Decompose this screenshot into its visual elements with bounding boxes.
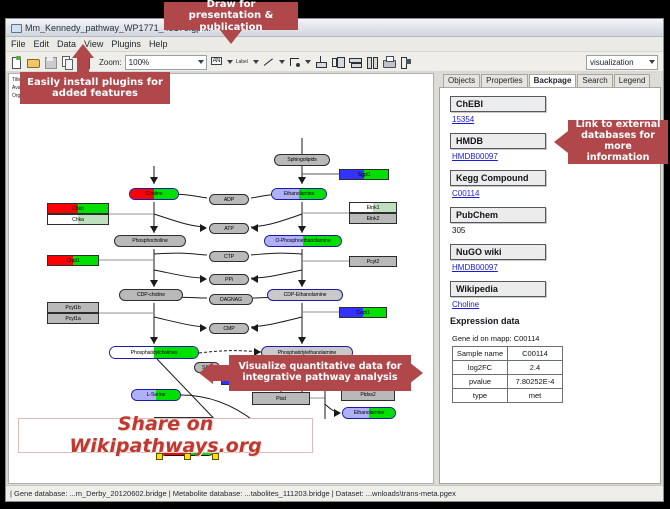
node-label: ADP — [224, 197, 234, 203]
pathway-node-sphingolipids[interactable]: Sphingolipids — [274, 154, 330, 166]
save-icon[interactable] — [43, 55, 57, 69]
backpage-section-head: HMDB — [450, 133, 546, 149]
tab-search[interactable]: Search — [577, 74, 612, 87]
callout-plugins-arrow — [72, 44, 94, 58]
backpage-link[interactable]: Choline — [452, 300, 660, 309]
node-label: Ethanolamine — [354, 410, 385, 416]
node-label: CMP — [223, 326, 234, 332]
node-label: Pcyt2 — [367, 259, 379, 265]
line-dropdown-icon[interactable] — [279, 60, 285, 64]
backpage-link[interactable]: C00114 — [452, 189, 660, 198]
expression-data-title: Expression data — [450, 316, 660, 326]
pathvisio-icon — [10, 22, 21, 33]
tab-objects[interactable]: Objects — [443, 74, 480, 87]
line-icon[interactable] — [262, 55, 276, 69]
chevron-down-icon — [649, 60, 655, 64]
callout-share: Share on Wikipathways.org — [18, 418, 313, 453]
node-label: Ethanolamine — [284, 191, 315, 197]
menu-item-help[interactable]: Help — [149, 39, 168, 49]
node-label: CDP-Ethanolamine — [284, 292, 327, 298]
pathway-node-etnk2[interactable]: Etnk2 — [349, 213, 397, 224]
stack-icon[interactable] — [348, 55, 362, 69]
pathway-node-ethanolamine-top[interactable]: Ethanolamine — [271, 188, 327, 200]
pathway-node-ethanolamine-bottom[interactable]: Ethanolamine — [342, 407, 396, 419]
pathway-node-chka[interactable]: Chka — [47, 214, 109, 225]
table-row: typemet — [453, 389, 563, 403]
node-label: Chkb — [72, 206, 84, 212]
new-document-icon[interactable] — [9, 55, 23, 69]
pathway-node-cdp-ethanolamine[interactable]: CDP-Ethanolamine — [267, 289, 343, 301]
pathway-node-l-serine-left[interactable]: L-Serine — [131, 389, 181, 401]
callout-link-arrow — [554, 131, 568, 153]
node-label: PPi — [225, 277, 233, 283]
node-label: Etnk2 — [367, 216, 380, 222]
node-label: Cept1 — [356, 310, 369, 316]
pathway-node-pcyt1b[interactable]: Pcyt1b — [47, 302, 99, 313]
node-label: Pcyt1b — [65, 305, 80, 311]
pathway-node-chkb[interactable]: Chkb — [47, 203, 109, 214]
zoom-label: Zoom: — [99, 58, 122, 67]
node-label: Pcyt1a — [65, 316, 80, 322]
gene-id-on-mapp: Gene id on mapp: C00114 — [452, 334, 660, 343]
visualization-value: visualization — [590, 58, 634, 67]
pathway-node-ctp[interactable]: CTP — [209, 251, 249, 262]
node-label: Sphingolipids — [287, 157, 317, 163]
open-folder-icon[interactable] — [26, 55, 40, 69]
node-label: CDP-choline — [137, 292, 165, 298]
callout-plugins-stem — [77, 57, 89, 73]
callout-link: Link to external databases for more info… — [568, 120, 668, 164]
callout-visualize-arrow-right — [409, 362, 423, 384]
callout-visualize: Visualize quantitative data for integrat… — [229, 355, 411, 391]
pathway-node-dag-nag[interactable]: DAGNAG — [209, 294, 253, 305]
toolbar: Zoom: 100% visualization — [6, 52, 663, 73]
pathway-node-ppi[interactable]: PPi — [209, 274, 249, 285]
menubar: File Edit Data View Plugins Help — [6, 37, 663, 52]
arrow-icon[interactable] — [288, 55, 302, 69]
node-label: Phosphatidylcholines — [131, 350, 178, 356]
node-label: Chpt1 — [66, 258, 79, 264]
node-label: Sgpl1 — [358, 172, 371, 178]
node-label: ATP — [224, 226, 233, 232]
annotation-dropdown-icon[interactable] — [227, 60, 233, 64]
backpage-section-head: PubChem — [450, 207, 546, 223]
callout-visualize-arrow — [199, 362, 213, 384]
node-label: Etnk1 — [367, 205, 380, 211]
pathway-node-cmp[interactable]: CMP — [209, 323, 249, 334]
table-cell: met — [508, 389, 563, 403]
table-row: pvalue7.80252E-4 — [453, 375, 563, 389]
backpage-value: 305 — [452, 226, 660, 235]
table-cell: C00114 — [508, 347, 563, 361]
backpage-section-head: ChEBI — [450, 96, 546, 112]
table-cell: pvalue — [453, 375, 508, 389]
pathway-node-sgpl1[interactable]: Sgpl1 — [339, 169, 389, 180]
node-label: L-Serine — [147, 392, 166, 398]
tab-legend[interactable]: Legend — [614, 74, 651, 87]
pathway-node-pcyt1a[interactable]: Pcyt1a — [47, 313, 99, 324]
table-row: log2FC2.4 — [453, 361, 563, 375]
zoom-value: 100% — [129, 58, 149, 67]
label-dropdown-icon[interactable] — [253, 60, 259, 64]
pathway-node-phosphatidylcholines[interactable]: Phosphatidylcholines — [109, 346, 199, 359]
order-icon[interactable] — [399, 55, 413, 69]
pathway-node-cept1[interactable]: Cept1 — [339, 307, 387, 318]
align-left-icon[interactable] — [331, 55, 345, 69]
label-icon[interactable] — [236, 55, 250, 69]
pathway-node-etnk1[interactable]: Etnk1 — [349, 202, 397, 213]
distribute-icon[interactable] — [365, 55, 379, 69]
align-center-icon[interactable] — [314, 55, 328, 69]
node-label: CTP — [224, 254, 234, 260]
table-cell: log2FC — [453, 361, 508, 375]
screenshot-root: Mm_Kennedy_pathway_WP1771_45176.gpml Fil… — [0, 0, 670, 509]
pathway-node-chpt1[interactable]: Chpt1 — [47, 255, 99, 266]
pathway-node-pcyt2[interactable]: Pcyt2 — [349, 256, 397, 267]
visualization-combobox[interactable]: visualization — [586, 55, 658, 70]
node-label: Chka — [72, 217, 84, 223]
callout-draw: Draw for presentation & publication — [164, 2, 298, 30]
table-cell: 2.4 — [508, 361, 563, 375]
print-icon[interactable] — [382, 55, 396, 69]
pathway-node-adp[interactable]: ADP — [209, 194, 249, 205]
menu-item-file[interactable]: File — [11, 39, 26, 49]
node-label: Phosphocholine — [132, 238, 168, 244]
panel-tabs: Objects Properties Backpage Search Legen… — [439, 73, 661, 87]
backpage-link[interactable]: HMDB00097 — [452, 263, 660, 272]
node-label: Ptdss2 — [360, 392, 375, 398]
backpage-section-head: Kegg Compound — [450, 170, 546, 186]
pathway-node-atp[interactable]: ATP — [209, 223, 249, 234]
node-label: Choline — [146, 191, 163, 197]
pathway-node-pisd[interactable]: Pisd — [252, 392, 310, 405]
callout-plugins: Easily install plugins for added feature… — [20, 72, 170, 104]
statusbar-text: | Gene database: ...m_Derby_20120602.bri… — [6, 489, 456, 498]
annotation-icon[interactable] — [210, 55, 224, 69]
pathway-node-o-phosphoethanolamine[interactable]: O-Phosphoethanolamine — [264, 235, 342, 247]
pathway-node-cdp-choline[interactable]: CDP-choline — [119, 289, 183, 301]
table-cell: 7.80252E-4 — [508, 375, 563, 389]
node-label: O-Phosphoethanolamine — [275, 238, 330, 244]
window-titlebar: Mm_Kennedy_pathway_WP1771_45176.gpml — [6, 19, 663, 37]
expression-table: Sample nameC00114log2FC2.4pvalue7.80252E… — [452, 346, 563, 403]
tab-properties[interactable]: Properties — [481, 74, 527, 87]
backpage-section-head: Wikipedia — [450, 281, 546, 297]
zoom-combobox[interactable]: 100% — [125, 55, 207, 70]
backpage-section-head: NuGO wiki — [450, 244, 546, 260]
table-cell: Sample name — [453, 347, 508, 361]
node-label: DAGNAG — [220, 297, 242, 303]
menu-item-edit[interactable]: Edit — [34, 39, 50, 49]
menu-item-plugins[interactable]: Plugins — [111, 39, 141, 49]
chevron-down-icon — [198, 60, 204, 64]
statusbar: | Gene database: ...m_Derby_20120602.bri… — [6, 485, 663, 501]
pathway-node-choline-top[interactable]: Choline — [129, 188, 179, 200]
table-row: Sample nameC00114 — [453, 347, 563, 361]
tab-backpage[interactable]: Backpage — [529, 74, 577, 88]
node-label: Pisd — [276, 396, 286, 402]
pathway-node-phosphocholine[interactable]: Phosphocholine — [114, 235, 186, 247]
arrow-dropdown-icon[interactable] — [305, 60, 311, 64]
table-cell: type — [453, 389, 508, 403]
